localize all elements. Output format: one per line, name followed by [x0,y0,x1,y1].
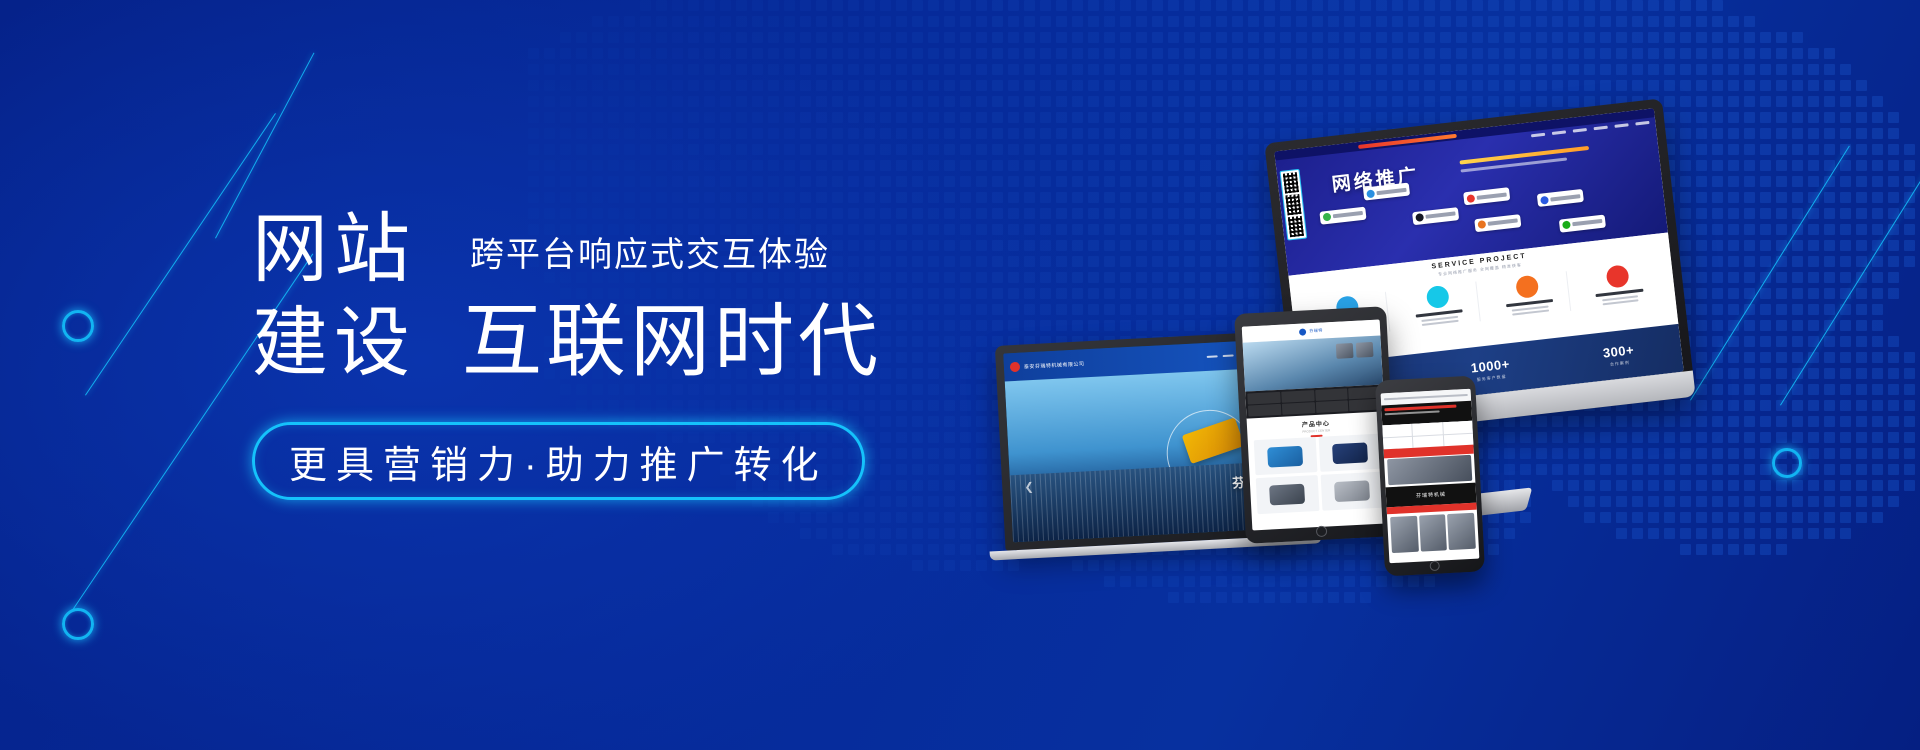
tablet-brand-name: 芬瑞特 [1309,328,1323,335]
stat-item: 300+ 合作案例 [1602,342,1636,368]
phone-body: 芬瑞特机械 [1375,376,1485,577]
nav-item[interactable] [1531,133,1545,138]
product-thumb [1336,343,1354,359]
category-item[interactable] [1248,404,1281,416]
service-card[interactable] [1397,282,1481,331]
nav-item[interactable] [1594,126,1608,131]
stat-number: 300+ [1602,342,1635,360]
company-logo-icon [1010,362,1021,373]
brand-logo-icon [1299,328,1306,335]
device-mockup-group: 网络推广 [1080,120,1780,640]
tablet-hero [1243,336,1383,392]
category-item[interactable] [1315,400,1348,412]
tablet-hero-products [1336,342,1374,359]
category-item[interactable] [1282,402,1315,414]
phone-center-text: 芬瑞特机械 [1416,490,1446,499]
tablet-device: 芬瑞特 [1234,306,1398,544]
thumbnail[interactable] [1419,514,1448,551]
service-card[interactable] [1577,261,1660,310]
headline-primary-line2: 建设 [252,306,416,382]
brand-badge[interactable] [1537,189,1584,207]
thumbnail[interactable] [1390,516,1419,553]
table-cell [1382,424,1412,437]
headline-row-2: 建设 互联网时代 [252,302,892,382]
service-icon [1425,285,1449,309]
service-icon [1606,265,1630,289]
qr-code-panel [1280,169,1308,241]
phone-thumbnail-row [1390,513,1476,553]
monitor-section-heading: SERVICE PROJECT 专业网络推广服务 全网覆盖 精准获客 [1431,253,1528,279]
thumbnail[interactable] [1447,513,1476,550]
hero-banner: 网站 跨平台响应式交互体验 建设 互联网时代 更具营销力·助力推广转化 [0,0,1920,750]
table-cell [1413,423,1443,436]
phone-device: 芬瑞特机械 [1375,376,1485,577]
headline-subtitle: 跨平台响应式交互体验 [470,227,830,288]
brand-badge[interactable] [1463,187,1510,205]
tagline-text: 更具营销力·助力推广转化 [289,434,828,489]
tablet-screen: 芬瑞特 [1242,320,1390,531]
carousel-prev-icon[interactable]: ❮ [1024,480,1034,493]
headline-accent [1384,404,1456,411]
category-item[interactable] [1281,390,1314,402]
nav-item[interactable] [1614,123,1628,128]
nav-item[interactable] [1573,128,1587,133]
headline-emphasis: 互联网时代 [462,302,882,382]
table-cell [1443,421,1473,434]
nav-item[interactable] [1552,130,1566,135]
nav-item[interactable] [1223,354,1234,357]
product-cell[interactable] [1320,472,1384,510]
tablet-product-grid [1253,434,1384,514]
nav-item[interactable] [1207,355,1218,358]
product-thumb [1355,342,1373,358]
category-item[interactable] [1247,392,1280,404]
product-cell[interactable] [1253,437,1317,475]
qr-code-image [1283,172,1299,193]
brand-badge[interactable] [1474,214,1521,232]
headline-primary-line1: 网站 [252,212,416,288]
service-icon [1515,275,1539,299]
headline-row-1: 网站 跨平台响应式交互体验 [252,212,892,288]
headline-copy-block: 网站 跨平台响应式交互体验 建设 互联网时代 更具营销力·助力推广转化 [252,212,892,500]
stat-caption: 合作案例 [1604,359,1636,369]
headline-subline [1385,410,1440,415]
nav-item[interactable] [1635,121,1649,126]
category-item[interactable] [1315,389,1348,401]
product-cell[interactable] [1318,434,1382,472]
tablet-body: 芬瑞特 [1234,306,1398,544]
tagline-pill: 更具营销力·助力推广转化 [252,422,865,500]
stat-item: 1000+ 服务客户数量 [1470,356,1511,383]
qr-code-image [1288,216,1304,237]
service-card[interactable] [1487,272,1571,321]
phone-screen: 芬瑞特机械 [1381,389,1480,563]
status-bar-line [1384,394,1468,400]
brand-badge[interactable] [1412,207,1459,225]
brand-badge[interactable] [1320,206,1367,224]
product-cell[interactable] [1255,475,1319,513]
qr-code-image [1285,194,1301,215]
stat-number: 1000+ [1470,356,1510,375]
brand-badge[interactable] [1559,214,1606,232]
phone-article-image [1387,455,1473,485]
company-name: 泰安芬瑞特机械有限公司 [1024,360,1085,370]
